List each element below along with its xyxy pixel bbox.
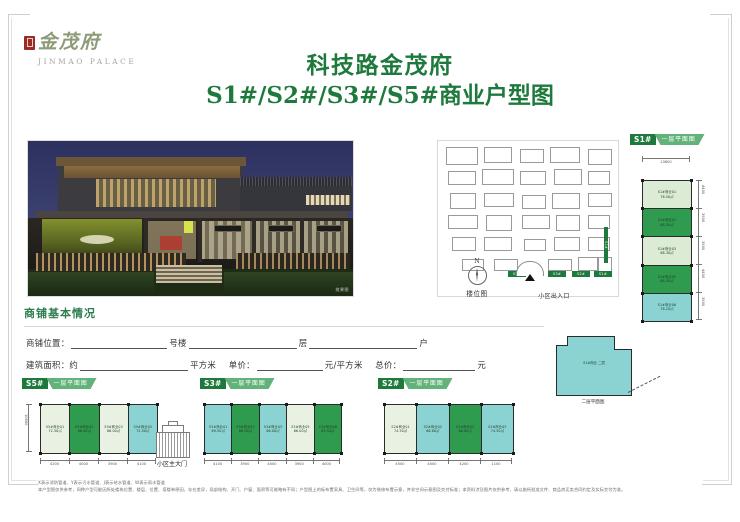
site-plan-building bbox=[550, 147, 580, 163]
plan-structural-node bbox=[383, 403, 386, 406]
plan-structural-node bbox=[340, 403, 343, 406]
dim-label: 4100 bbox=[137, 462, 146, 466]
plan-unit[interactable]: S2#商业0174.50㎡ bbox=[385, 405, 417, 453]
plan-structural-node bbox=[285, 403, 288, 406]
dim-label: 3900 bbox=[295, 462, 304, 466]
dim-tick bbox=[384, 458, 385, 464]
plan-structural-node bbox=[98, 403, 101, 406]
site-plan-building bbox=[486, 215, 512, 231]
floor-plan-s1-level2-unit: S1#商业 二层 bbox=[556, 336, 632, 396]
plan-unit[interactable]: S3#商业0366.00㎡ bbox=[260, 405, 287, 453]
plan-structural-node bbox=[641, 264, 644, 267]
info-input-blank[interactable] bbox=[309, 339, 417, 349]
plan-s5-dim-bottom: 4200400039004100 bbox=[40, 460, 156, 469]
plan-structural-node bbox=[690, 292, 693, 295]
plan-structural-node bbox=[258, 403, 261, 406]
plan-unit[interactable]: S5#商业0366.00㎡ bbox=[100, 405, 129, 453]
gate-label: 小区主大门 bbox=[148, 459, 196, 468]
dim-label: 3900 bbox=[108, 462, 117, 466]
plan-s1-units: S1#商业0176.50㎡S1#商业0268.30㎡S1#商业0368.30㎡S… bbox=[642, 180, 692, 322]
plan-unit[interactable]: S1#商业0368.30㎡ bbox=[643, 237, 691, 265]
basic-info-heading: 商铺基本情况 bbox=[24, 305, 544, 321]
site-plan-building bbox=[554, 169, 582, 185]
dim-tick bbox=[696, 180, 702, 181]
info-label: 单价： bbox=[218, 359, 257, 371]
plan-s5-dim-left: 10600 bbox=[28, 404, 37, 452]
site-plan-building bbox=[484, 193, 514, 207]
plan-structural-node bbox=[156, 403, 159, 406]
plan-unit-label: S3#商业0169.50㎡ bbox=[209, 425, 227, 434]
plan-structural-node bbox=[690, 207, 693, 210]
info-label: 建筑面积：约 bbox=[24, 359, 80, 371]
site-plan-building bbox=[556, 215, 580, 231]
photo-canopy bbox=[36, 211, 348, 218]
plan-code-s1: S1# bbox=[630, 134, 656, 145]
dim-label: 4200 bbox=[50, 462, 59, 466]
plan-unit-label: S1#商业0678.20㎡ bbox=[658, 303, 676, 312]
plan-label-s5: S5# 一层平面图 bbox=[22, 378, 97, 389]
dim-tick bbox=[511, 458, 512, 464]
dim-tick bbox=[127, 458, 128, 464]
photo-shop-sign-2 bbox=[268, 225, 294, 232]
dim-tick bbox=[69, 458, 70, 464]
plan-structural-node bbox=[641, 179, 644, 182]
plan-structural-node bbox=[39, 403, 42, 406]
footnote-1: X表示消防管道、Y表示污水管道、J表示给水管道、W表示雨水管道 bbox=[38, 479, 720, 486]
site-plan-building-tag: S3# bbox=[548, 271, 566, 277]
info-input-blank[interactable] bbox=[71, 339, 167, 349]
plan-unit-label: S1#商业0568.30㎡ bbox=[658, 275, 676, 284]
plan-structural-node bbox=[480, 403, 483, 406]
compass-needle-south bbox=[476, 275, 478, 282]
info-label: 户 bbox=[417, 337, 430, 349]
plan-structural-node bbox=[690, 179, 693, 182]
plan-structural-node bbox=[512, 403, 515, 406]
site-plan-building bbox=[450, 193, 476, 209]
plan-structural-node bbox=[480, 452, 483, 455]
photo-brand-badge bbox=[184, 221, 193, 233]
site-plan-building bbox=[452, 237, 476, 251]
frame-corner-top-left bbox=[8, 14, 30, 15]
info-label: 平方米 bbox=[188, 359, 218, 371]
plan-s2-units: S2#商业0174.50㎡S2#商业0266.80㎡S2#商业0366.80㎡S… bbox=[384, 404, 514, 454]
photo-eave-soffit bbox=[64, 166, 240, 178]
compass-needle-north bbox=[476, 268, 478, 275]
dim-label: 4000 bbox=[322, 462, 331, 466]
level2-caption: 二层平面图 bbox=[548, 399, 638, 405]
plan-unit-label: S5#商业0572.50㎡ bbox=[134, 425, 152, 434]
photo-shop-sign-1 bbox=[214, 225, 242, 232]
plan-structural-node bbox=[203, 452, 206, 455]
site-plan-building bbox=[522, 215, 550, 229]
hero-photo: 效果图 bbox=[27, 140, 354, 297]
plan-unit-label: S3#商业0366.00㎡ bbox=[264, 425, 282, 434]
plan-code-s3: S3# bbox=[200, 378, 226, 389]
dim-label: 4000 bbox=[427, 462, 436, 466]
plan-unit-label: S2#商业0574.50㎡ bbox=[488, 425, 506, 434]
plan-structural-node bbox=[230, 452, 233, 455]
plan-unit[interactable]: S3#商业0169.50㎡ bbox=[205, 405, 232, 453]
site-plan-building bbox=[588, 193, 612, 207]
dim-tick bbox=[286, 458, 287, 464]
photo-hedge-right bbox=[224, 272, 353, 295]
frame-corner-bottom-left bbox=[8, 484, 38, 485]
info-input-blank[interactable] bbox=[189, 339, 297, 349]
plan-structural-node bbox=[415, 452, 418, 455]
plan-code-s2: S2# bbox=[378, 378, 404, 389]
plan-structural-node bbox=[690, 264, 693, 267]
plan-unit-label: S3#商业0669.50㎡ bbox=[319, 425, 337, 434]
photo-shop-sign-3 bbox=[316, 225, 342, 232]
plan-label-s2: S2# 一层平面图 bbox=[378, 378, 453, 389]
photo-watermark: 效果图 bbox=[336, 287, 350, 293]
plan-structural-node bbox=[415, 403, 418, 406]
dim-label: 4100 bbox=[213, 462, 222, 466]
site-plan-building bbox=[552, 193, 580, 209]
photo-eave bbox=[56, 157, 246, 166]
compass-icon bbox=[468, 266, 487, 285]
plan-unit[interactable]: S2#商业0366.80㎡ bbox=[450, 405, 482, 453]
plan-s3-dim-bottom: 41003900400039004000 bbox=[204, 460, 340, 469]
photo-column-2 bbox=[198, 218, 202, 262]
plan-structural-node bbox=[68, 452, 71, 455]
dim-label: 1100 bbox=[491, 462, 500, 466]
plan-s2-dim-bottom: 4500400042001100 bbox=[384, 460, 512, 469]
site-plan-building bbox=[448, 171, 476, 185]
site-plan-building bbox=[522, 195, 546, 209]
plan-label-s3: S3# 一层平面图 bbox=[200, 378, 275, 389]
plan-structural-node bbox=[340, 452, 343, 455]
frame-line-left-inner bbox=[11, 18, 12, 480]
community-gate-illustration: 小区主大门 bbox=[152, 424, 192, 458]
dim-label: 3900 bbox=[240, 462, 249, 466]
plan-structural-node bbox=[285, 452, 288, 455]
plan-unit-label: S5#商业0266.00㎡ bbox=[75, 425, 93, 434]
dim-label: 3900 bbox=[701, 297, 705, 306]
level2-unit-label: S1#商业 二层 bbox=[571, 361, 617, 365]
plan-unit[interactable]: S1#商业0176.50㎡ bbox=[643, 181, 691, 209]
plan-structural-node bbox=[68, 403, 71, 406]
site-plan-building bbox=[484, 237, 512, 251]
dim-label: 4200 bbox=[459, 462, 468, 466]
dim-label: 4500 bbox=[395, 462, 404, 466]
info-label: 元/平方米 bbox=[323, 359, 365, 371]
brand-name-cn: 金茂府 bbox=[38, 33, 101, 52]
plan-structural-node bbox=[230, 403, 233, 406]
compass-rose: N 楼位图 bbox=[462, 258, 492, 298]
plan-structural-node bbox=[641, 292, 644, 295]
plan-unit-label: S1#商业0176.50㎡ bbox=[658, 190, 676, 199]
dim-tick bbox=[696, 236, 702, 237]
dim-tick bbox=[204, 458, 205, 464]
plan-unit-label: S3#商业0266.00㎡ bbox=[236, 425, 254, 434]
photo-right-railing bbox=[240, 177, 352, 186]
info-row: 商铺位置：号楼层户 bbox=[24, 337, 544, 349]
plan-s1-dim-right: 44003900390044003900 bbox=[698, 180, 707, 320]
title-line-1: 科技路金茂府 bbox=[180, 52, 580, 81]
seal-icon bbox=[24, 36, 35, 50]
photo-fence-right bbox=[236, 253, 350, 269]
dim-label: 4400 bbox=[701, 185, 705, 194]
dim-tick bbox=[258, 458, 259, 464]
plan-unit[interactable]: S3#商业0669.50㎡ bbox=[315, 405, 341, 453]
plan-structural-node bbox=[258, 452, 261, 455]
site-plan-building-tag: S2# bbox=[572, 271, 590, 277]
level2-notch-left bbox=[556, 336, 568, 346]
plan-structural-node bbox=[383, 452, 386, 455]
info-label: 元 bbox=[475, 359, 488, 371]
dim-label: 4000 bbox=[267, 462, 276, 466]
plan-unit-label: S5#商业0172.50㎡ bbox=[46, 425, 64, 434]
plan-unit-label: S2#商业0266.80㎡ bbox=[424, 425, 442, 434]
plan-unit-label: S3#商业0566.00㎡ bbox=[291, 425, 309, 434]
floor-plan-s1: 10600 S1#商业0176.50㎡S1#商业0268.30㎡S1#商业036… bbox=[630, 152, 730, 327]
photo-shop-2-accent bbox=[160, 236, 182, 250]
site-plan-caption: 楼位图 bbox=[462, 288, 492, 298]
plan-structural-node bbox=[641, 320, 644, 323]
site-plan-building bbox=[448, 215, 478, 229]
plan-structural-node bbox=[448, 403, 451, 406]
plan-unit[interactable]: S5#商业0172.50㎡ bbox=[41, 405, 70, 453]
dim-tick bbox=[448, 458, 449, 464]
brochure-page: 金茂府 JINMAO PALACE 科技路金茂府 S1#/S2#/S3#/S5#… bbox=[0, 0, 740, 522]
site-plan-building bbox=[520, 149, 544, 163]
frame-corner-top-right bbox=[710, 14, 732, 15]
site-plan-building bbox=[588, 171, 610, 185]
plan-caption-s5: 一层平面图 bbox=[47, 378, 97, 389]
info-input-blank[interactable] bbox=[257, 361, 323, 371]
site-plan-building bbox=[588, 149, 612, 165]
plan-caption-s3: 一层平面图 bbox=[225, 378, 275, 389]
site-plan-building bbox=[494, 259, 518, 271]
plan-structural-node bbox=[98, 452, 101, 455]
site-plan-building bbox=[520, 171, 546, 185]
gate-body-icon bbox=[156, 432, 190, 458]
floor-plan-s2: S2#商业0174.50㎡S2#商业0266.80㎡S2#商业0366.80㎡S… bbox=[378, 396, 528, 476]
dim-label: 4400 bbox=[701, 269, 705, 278]
plan-structural-node bbox=[203, 403, 206, 406]
dim-tick bbox=[696, 319, 702, 320]
plan-unit[interactable]: S3#商业0266.00㎡ bbox=[232, 405, 259, 453]
site-plan-building bbox=[554, 237, 580, 251]
dim-tick bbox=[40, 458, 41, 464]
plan-structural-node bbox=[127, 452, 130, 455]
plan-s1-dim-top: 10600 bbox=[642, 158, 690, 167]
dim-tick bbox=[98, 458, 99, 464]
basic-info-rows: 商铺位置：号楼层户建筑面积：约平方米 单价：元/平方米 总价：元 bbox=[24, 337, 544, 371]
photo-storefront-sign bbox=[80, 235, 114, 244]
dim-tick bbox=[696, 264, 702, 265]
plan-label-s1: S1# 一层平面图 bbox=[630, 134, 705, 145]
dim-label: 4000 bbox=[79, 462, 88, 466]
plan-unit[interactable]: S1#商业0678.20㎡ bbox=[643, 294, 691, 321]
frame-corner-bottom-left-inner bbox=[11, 480, 37, 481]
plan-structural-node bbox=[690, 235, 693, 238]
dim-label: 3900 bbox=[701, 213, 705, 222]
page-title: 科技路金茂府 S1#/S2#/S3#/S5#商业户型图 bbox=[180, 52, 580, 111]
plan-structural-node bbox=[448, 452, 451, 455]
plan-unit[interactable]: S5#商业0266.00㎡ bbox=[70, 405, 99, 453]
info-input-blank[interactable] bbox=[403, 361, 475, 371]
brand-name-en: JINMAO PALACE bbox=[38, 57, 144, 66]
info-label: 号楼 bbox=[167, 337, 188, 349]
plan-unit-label: S5#商业0366.00㎡ bbox=[104, 425, 122, 434]
dim-label: 3900 bbox=[701, 241, 705, 250]
dim-tick bbox=[416, 458, 417, 464]
site-plan-building-tag-vertical: S1# bbox=[604, 227, 608, 263]
level2-notch-right bbox=[614, 336, 632, 350]
site-plan-building bbox=[578, 257, 598, 271]
plan-unit-label: S2#商业0174.50㎡ bbox=[391, 425, 409, 434]
dim-tick bbox=[231, 458, 232, 464]
info-row: 建筑面积：约平方米 单价：元/平方米 总价：元 bbox=[24, 359, 544, 371]
plan-s5-units: S5#商业0172.50㎡S5#商业0266.00㎡S5#商业0366.00㎡S… bbox=[40, 404, 158, 454]
compass-north-label: N bbox=[462, 258, 492, 265]
plan-unit-label: S2#商业0366.80㎡ bbox=[456, 425, 474, 434]
plan-unit[interactable]: S2#商业0574.50㎡ bbox=[482, 405, 513, 453]
info-input-blank[interactable] bbox=[80, 361, 188, 371]
photo-upper-glazing bbox=[96, 179, 216, 207]
plan-structural-node bbox=[641, 207, 644, 210]
plan-unit[interactable]: S3#商业0566.00㎡ bbox=[287, 405, 314, 453]
site-plan-entrance-label: 小区出入口 bbox=[514, 291, 594, 300]
basic-info-panel: 商铺基本情况 商铺位置：号楼层户建筑面积：约平方米 单价：元/平方米 总价：元 bbox=[24, 305, 544, 371]
dim-tick bbox=[696, 208, 702, 209]
dim-tick bbox=[696, 292, 702, 293]
plan-unit[interactable]: S1#商业0268.30㎡ bbox=[643, 209, 691, 237]
plan-structural-node bbox=[127, 403, 130, 406]
photo-hedge-left bbox=[28, 272, 154, 295]
frame-line-right bbox=[731, 14, 732, 484]
footnote-2: 本产型图仅供参考，同种户型可能因所处楼栋位置、楼层、位置、塔楼单原因，存在差异，… bbox=[38, 486, 720, 493]
site-plan-building bbox=[446, 147, 478, 165]
info-label: 总价： bbox=[365, 359, 404, 371]
brand-logo: 金茂府 JINMAO PALACE bbox=[24, 33, 144, 66]
plan-unit[interactable]: S2#商业0266.80㎡ bbox=[417, 405, 449, 453]
plan-unit-label: S1#商业0368.30㎡ bbox=[658, 247, 676, 256]
site-plan-building bbox=[548, 259, 572, 271]
plan-structural-node bbox=[39, 452, 42, 455]
photo-entry-steps bbox=[156, 265, 222, 283]
plan-structural-node bbox=[313, 403, 316, 406]
plan-structural-node bbox=[690, 320, 693, 323]
info-label: 商铺位置： bbox=[24, 337, 71, 349]
site-plan-building bbox=[484, 147, 512, 163]
dim-tick bbox=[313, 458, 314, 464]
floor-plan-s3: S3#商业0169.50㎡S3#商业0266.00㎡S3#商业0366.00㎡S… bbox=[200, 396, 350, 476]
plan-unit-label: S1#商业0268.30㎡ bbox=[658, 218, 676, 227]
plan-unit[interactable]: S1#商业0568.30㎡ bbox=[643, 266, 691, 294]
dim-tick bbox=[339, 458, 340, 464]
plan-caption-s2: 一层平面图 bbox=[403, 378, 453, 389]
basic-info-divider bbox=[24, 326, 544, 327]
site-plan-building-tag: S1# bbox=[594, 271, 612, 277]
site-plan-building bbox=[524, 239, 546, 251]
plan-s3-units: S3#商业0169.50㎡S3#商业0266.00㎡S3#商业0366.00㎡S… bbox=[204, 404, 342, 454]
plan-caption-s1: 一层平面图 bbox=[655, 134, 705, 145]
site-plan-entrance-marker bbox=[525, 274, 535, 281]
plan-structural-node bbox=[641, 235, 644, 238]
dim-tick bbox=[480, 458, 481, 464]
plan-code-s5: S5# bbox=[22, 378, 48, 389]
level2-leader-line bbox=[628, 376, 661, 393]
plan-structural-node bbox=[512, 452, 515, 455]
footnotes: X表示消防管道、Y表示污水管道、J表示给水管道、W表示雨水管道 本产型图仅供参考… bbox=[38, 479, 720, 493]
site-plan-building bbox=[482, 169, 514, 185]
plan-structural-node bbox=[313, 452, 316, 455]
photo-right-window bbox=[306, 195, 350, 205]
info-label: 层 bbox=[297, 337, 310, 349]
title-line-2: S1#/S2#/S3#/S5#商业户型图 bbox=[180, 81, 580, 111]
frame-line-left bbox=[8, 14, 9, 484]
